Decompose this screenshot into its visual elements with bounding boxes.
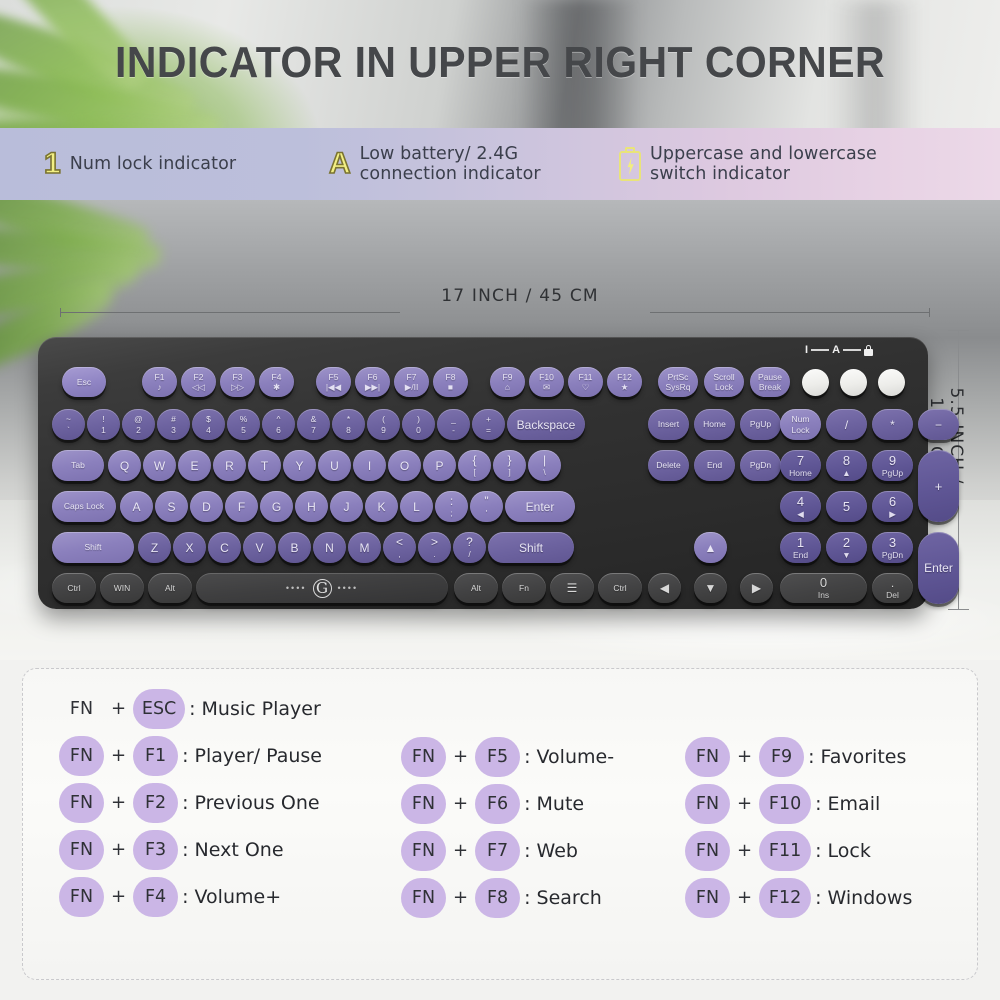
key-label-top: } bbox=[507, 454, 511, 466]
key-label-bottom: Break bbox=[759, 383, 781, 392]
key-num[interactable]: NumLock bbox=[780, 409, 821, 440]
key-[interactable]: |\ bbox=[528, 450, 561, 481]
key-f8[interactable]: F8■ bbox=[433, 367, 468, 397]
key-label-top: 5 bbox=[843, 500, 850, 513]
key-[interactable]: *8 bbox=[332, 409, 365, 440]
key-label-top: 9 bbox=[889, 454, 896, 467]
key-label-top: 0 bbox=[820, 576, 827, 589]
key-label-top: / bbox=[845, 419, 848, 431]
key-f3[interactable]: F3▷▷ bbox=[220, 367, 255, 397]
key-b[interactable]: B bbox=[278, 532, 311, 563]
fn-modifier-chip: FN bbox=[685, 784, 730, 824]
key-[interactable]: )0 bbox=[402, 409, 435, 440]
key-label-bottom: ▶▶| bbox=[365, 383, 380, 392]
plus-sign: + bbox=[453, 793, 468, 814]
key-label-top: Ctrl bbox=[613, 584, 626, 593]
key-label-bottom: ♡ bbox=[582, 383, 590, 392]
key-c[interactable]: C bbox=[208, 532, 241, 563]
key-[interactable]: <, bbox=[383, 532, 416, 563]
fn-shortcut-description: : Volume- bbox=[524, 746, 614, 768]
key-label-top: Enter bbox=[526, 501, 555, 513]
plus-sign: + bbox=[737, 887, 752, 908]
key-label-bottom: ; bbox=[450, 509, 452, 518]
key-label-top: W bbox=[154, 460, 165, 472]
fn-key-chip: F1 bbox=[133, 736, 178, 776]
key-label-bottom: 5 bbox=[241, 426, 246, 435]
key-[interactable]: ~` bbox=[52, 409, 85, 440]
letter-a-glyph: A bbox=[329, 149, 351, 179]
key-7[interactable]: 7Home bbox=[780, 450, 821, 481]
key-label-top: + bbox=[935, 480, 943, 493]
key-label-bottom: 2 bbox=[136, 426, 141, 435]
key-label-top: | bbox=[543, 454, 546, 466]
key-2[interactable]: 2▼ bbox=[826, 532, 867, 563]
key-label-bottom: ] bbox=[508, 468, 510, 477]
key-label-top: F3 bbox=[233, 373, 243, 382]
fn-shortcut-row: FN+F2: Previous One bbox=[59, 779, 389, 826]
key-capslock[interactable]: Caps Lock bbox=[52, 491, 116, 522]
key-label-top: Home bbox=[703, 420, 726, 429]
key-label-top: Alt bbox=[165, 584, 175, 593]
key-label-top: ☰ bbox=[567, 582, 578, 594]
fn-shortcut-row: FN+F9: Favorites bbox=[685, 733, 975, 780]
fn-key-chip: F6 bbox=[475, 784, 520, 824]
key-label-top: ▼ bbox=[705, 582, 717, 594]
fn-shortcuts-panel: FN+ESC: Music PlayerFN+F1: Player/ Pause… bbox=[22, 668, 978, 980]
key-label-top: 6 bbox=[889, 495, 896, 508]
key-e[interactable]: E bbox=[178, 450, 211, 481]
plus-sign: + bbox=[737, 746, 752, 767]
key-[interactable]: @2 bbox=[122, 409, 155, 440]
key-label-top: X bbox=[185, 542, 193, 554]
fn-key-chip: ESC bbox=[133, 689, 185, 729]
key-a[interactable]: A bbox=[120, 491, 153, 522]
key-label-top: L bbox=[413, 501, 420, 513]
fn-modifier-chip: FN bbox=[59, 783, 104, 823]
key-enter[interactable]: Enter bbox=[505, 491, 575, 522]
key-label-bottom: ▷▷ bbox=[231, 383, 244, 392]
key-[interactable]: ▶ bbox=[740, 573, 773, 603]
key-label-bottom: 1 bbox=[101, 426, 106, 435]
battery-bolt-icon bbox=[619, 147, 641, 181]
key-label-bottom: ⌂ bbox=[505, 383, 510, 392]
key-fn[interactable]: Fn bbox=[502, 573, 546, 603]
plus-sign: + bbox=[453, 840, 468, 861]
fn-shortcut-row: FN+F6: Mute bbox=[401, 780, 681, 827]
fn-modifier-chip: FN bbox=[685, 737, 730, 777]
key-label-top: + bbox=[486, 415, 491, 424]
fn-shortcut-description: : Next One bbox=[182, 839, 283, 861]
fn-modifier-chip: FN bbox=[401, 831, 446, 871]
key-label-top: > bbox=[431, 536, 438, 548]
fn-shortcut-row: FN+F12: Windows bbox=[685, 874, 975, 921]
key-label-bottom: Lock bbox=[715, 383, 733, 392]
key-label-top: ! bbox=[102, 415, 104, 424]
key-label-top: U bbox=[330, 460, 339, 472]
key-esc[interactable]: Esc bbox=[62, 367, 106, 397]
key-label-bottom: 7 bbox=[311, 426, 316, 435]
key-label-top: Alt bbox=[471, 584, 481, 593]
spacebar[interactable]: ••••G•••• bbox=[196, 573, 448, 603]
key-0[interactable]: 0Ins bbox=[780, 573, 867, 603]
fn-shortcut-row: FN+F5: Volume- bbox=[401, 733, 681, 780]
key-f5[interactable]: F5|◀◀ bbox=[316, 367, 351, 397]
key-[interactable]: * bbox=[872, 409, 913, 440]
measure-tick-left bbox=[60, 308, 61, 317]
round-button-white-3[interactable] bbox=[878, 369, 905, 396]
fn-modifier-chip: FN bbox=[401, 784, 446, 824]
key-f2[interactable]: F2◁◁ bbox=[181, 367, 216, 397]
key-label-top: ? bbox=[466, 536, 473, 548]
key-[interactable]: :; bbox=[435, 491, 468, 522]
key-label-top: ( bbox=[382, 415, 385, 424]
fn-key-chip: F10 bbox=[759, 784, 811, 824]
key-label-top: K bbox=[377, 501, 385, 513]
plus-sign: + bbox=[453, 887, 468, 908]
key-[interactable]: / bbox=[826, 409, 867, 440]
keyboard-indicator-strip: I A bbox=[805, 344, 873, 356]
key-shift[interactable]: Shift bbox=[52, 532, 134, 563]
fn-modifier-chip: FN bbox=[401, 878, 446, 918]
key-label-top: Ctrl bbox=[67, 584, 80, 593]
key-label-top: @ bbox=[134, 415, 143, 424]
key-label-top: N bbox=[325, 542, 334, 554]
key-y[interactable]: Y bbox=[283, 450, 316, 481]
key-[interactable]: += bbox=[472, 409, 505, 440]
key-d[interactable]: D bbox=[190, 491, 223, 522]
fn-shortcut-description: : Lock bbox=[815, 840, 871, 862]
key-u[interactable]: U bbox=[318, 450, 351, 481]
key-label-top: Z bbox=[151, 542, 158, 554]
key-w[interactable]: W bbox=[143, 450, 176, 481]
key-label-top: G bbox=[272, 501, 281, 513]
plus-sign: + bbox=[737, 840, 752, 861]
key-label-top: # bbox=[171, 415, 176, 424]
fn-shortcut-description: : Search bbox=[524, 887, 602, 909]
key-[interactable]: >. bbox=[418, 532, 451, 563]
fn-shortcut-description: : Previous One bbox=[182, 792, 319, 814]
key-label-bottom: End bbox=[793, 551, 808, 560]
key-label-bottom: 3 bbox=[171, 426, 176, 435]
fn-key-chip: F9 bbox=[759, 737, 804, 777]
fn-shortcut-row: FN+F3: Next One bbox=[59, 826, 389, 873]
key-[interactable]: &7 bbox=[297, 409, 330, 440]
key-label-top: F4 bbox=[272, 373, 282, 382]
key-1[interactable]: 1End bbox=[780, 532, 821, 563]
fn-shortcut-description: : Mute bbox=[524, 793, 584, 815]
key-[interactable]: !1 bbox=[87, 409, 120, 440]
indicator-legend-bar: 1 Num lock indicator A Low battery/ 2.4G… bbox=[0, 128, 1000, 200]
key-f11[interactable]: F11♡ bbox=[568, 367, 603, 397]
key-f10[interactable]: F10✉ bbox=[529, 367, 564, 397]
brand-logo: G bbox=[313, 579, 332, 598]
key-[interactable]: $4 bbox=[192, 409, 225, 440]
key-label-bottom: , bbox=[398, 550, 400, 559]
key-4[interactable]: 4◀ bbox=[780, 491, 821, 522]
key-[interactable]: ◀ bbox=[648, 573, 681, 603]
key-label-top: F10 bbox=[539, 373, 554, 382]
key-label-top: F6 bbox=[368, 373, 378, 382]
key-alt[interactable]: Alt bbox=[454, 573, 498, 603]
fn-shortcut-description: : Windows bbox=[815, 887, 912, 909]
key-n[interactable]: N bbox=[313, 532, 346, 563]
key-alt[interactable]: Alt bbox=[148, 573, 192, 603]
key-3[interactable]: 3PgDn bbox=[872, 532, 913, 563]
key-k[interactable]: K bbox=[365, 491, 398, 522]
key-label-top: ◀ bbox=[660, 582, 669, 594]
key-6[interactable]: 6▶ bbox=[872, 491, 913, 522]
fn-key-chip: F5 bbox=[475, 737, 520, 777]
key-label-top: % bbox=[240, 415, 248, 424]
key-[interactable]: + bbox=[918, 450, 959, 522]
key-label-bottom: \ bbox=[543, 468, 545, 477]
key-label-bottom: ✱ bbox=[273, 383, 280, 392]
key-label-top: 4 bbox=[797, 495, 804, 508]
key-label-top: $ bbox=[206, 415, 211, 424]
key-5[interactable]: 5 bbox=[826, 491, 867, 522]
plus-sign: + bbox=[111, 745, 126, 766]
measure-tick-top bbox=[948, 330, 969, 331]
key-t[interactable]: T bbox=[248, 450, 281, 481]
keyboard-keys-area: EscF1♪F2◁◁F3▷▷F4✱F5|◀◀F6▶▶|F7▶/IIF8■F9⌂F… bbox=[38, 337, 928, 609]
key-label-top: E bbox=[190, 460, 198, 472]
key-[interactable]: #3 bbox=[157, 409, 190, 440]
fn-shortcut-row: FN+F10: Email bbox=[685, 780, 975, 827]
key-label-top: F9 bbox=[503, 373, 513, 382]
key-z[interactable]: Z bbox=[138, 532, 171, 563]
key-g[interactable]: G bbox=[260, 491, 293, 522]
plus-sign: + bbox=[111, 839, 126, 860]
plus-sign: + bbox=[111, 886, 126, 907]
key-[interactable]: _- bbox=[437, 409, 470, 440]
indicator-numlock-label: I bbox=[805, 344, 808, 356]
key-label-top: End bbox=[707, 461, 722, 470]
fn-shortcut-row: FN+F7: Web bbox=[401, 827, 681, 874]
key-f1[interactable]: F1♪ bbox=[142, 367, 177, 397]
key-o[interactable]: O bbox=[388, 450, 421, 481]
key-label-top: Shift bbox=[519, 542, 543, 554]
key-label-top: F7 bbox=[407, 373, 417, 382]
fn-shortcut-row: FN+F11: Lock bbox=[685, 827, 975, 874]
key-9[interactable]: 9PgUp bbox=[872, 450, 913, 481]
key-p[interactable]: P bbox=[423, 450, 456, 481]
key-label-top: : bbox=[450, 495, 453, 507]
legend-battery-line2: connection indicator bbox=[360, 164, 541, 184]
fn-key-chip: F2 bbox=[133, 783, 178, 823]
legend-caps-line1: Uppercase and lowercase bbox=[650, 144, 877, 164]
key-label-top: Scroll bbox=[713, 373, 734, 382]
key-label-bottom: 6 bbox=[276, 426, 281, 435]
key-v[interactable]: V bbox=[243, 532, 276, 563]
key-label-top: F11 bbox=[578, 373, 592, 382]
key-label-top: " bbox=[484, 495, 488, 507]
key-x[interactable]: X bbox=[173, 532, 206, 563]
key-[interactable]: ▼ bbox=[694, 573, 727, 603]
round-button-white-1[interactable] bbox=[802, 369, 829, 396]
key-label-top: Tab bbox=[71, 461, 85, 470]
key-label-top: Backspace bbox=[517, 419, 576, 431]
key-delete[interactable]: Delete bbox=[648, 450, 689, 481]
key-end[interactable]: End bbox=[694, 450, 735, 481]
key-label-top: * bbox=[347, 415, 350, 424]
fn-shortcut-row: FN+ESC: Music Player bbox=[59, 685, 389, 732]
key-label-bottom: Home bbox=[789, 469, 812, 478]
key-label-top: F5 bbox=[329, 373, 339, 382]
key-8[interactable]: 8▲ bbox=[826, 450, 867, 481]
key-label-bottom: 8 bbox=[346, 426, 351, 435]
key-[interactable]: ▲ bbox=[694, 532, 727, 563]
key-prtsc[interactable]: PrtScSysRq bbox=[658, 367, 698, 397]
plus-sign: + bbox=[453, 746, 468, 767]
measure-line-left bbox=[60, 312, 400, 313]
key-label-top: Enter bbox=[924, 562, 953, 574]
key-label-bottom: ◁◁ bbox=[192, 383, 205, 392]
key-label-top: Esc bbox=[77, 378, 91, 387]
key-[interactable]: ☰ bbox=[550, 573, 594, 603]
key-backspace[interactable]: Backspace bbox=[507, 409, 585, 440]
key-[interactable]: }] bbox=[493, 450, 526, 481]
key-label-top: ) bbox=[417, 415, 420, 424]
fn-key-chip: F7 bbox=[475, 831, 520, 871]
key-q[interactable]: Q bbox=[108, 450, 141, 481]
key-label-bottom: PgUp bbox=[882, 469, 903, 478]
key-home[interactable]: Home bbox=[694, 409, 735, 440]
key-enter[interactable]: Enter bbox=[918, 532, 959, 604]
key-label-bottom: = bbox=[486, 426, 491, 435]
fn-modifier-chip: FN bbox=[59, 877, 104, 917]
fn-shortcut-description: : Player/ Pause bbox=[182, 745, 322, 767]
key-[interactable]: (9 bbox=[367, 409, 400, 440]
fn-modifier-chip: FN bbox=[59, 689, 104, 729]
indicator-divider bbox=[843, 349, 861, 350]
key-[interactable]: .Del bbox=[872, 573, 913, 603]
key-[interactable]: "' bbox=[470, 491, 503, 522]
fn-shortcuts-column-2: FN+F5: Volume-FN+F6: MuteFN+F7: WebFN+F8… bbox=[401, 733, 681, 921]
key-ctrl[interactable]: Ctrl bbox=[598, 573, 642, 603]
key-l[interactable]: L bbox=[400, 491, 433, 522]
round-button-white-2[interactable] bbox=[840, 369, 867, 396]
key-label-top: . bbox=[891, 577, 894, 589]
key-f4[interactable]: F4✱ bbox=[259, 367, 294, 397]
key-label-top: R bbox=[225, 460, 234, 472]
key-[interactable]: ^6 bbox=[262, 409, 295, 440]
key-label-top: O bbox=[400, 460, 409, 472]
key-label-top: ^ bbox=[277, 415, 281, 424]
key-label-top: Pause bbox=[758, 373, 782, 382]
key-r[interactable]: R bbox=[213, 450, 246, 481]
key-label-bottom: Del bbox=[886, 591, 899, 600]
key-j[interactable]: J bbox=[330, 491, 363, 522]
key-label-top: Delete bbox=[656, 461, 681, 470]
key-label-top: Fn bbox=[519, 584, 529, 593]
key-[interactable]: ?/ bbox=[453, 532, 486, 563]
fn-shortcuts-column-3: FN+F9: FavoritesFN+F10: EmailFN+F11: Loc… bbox=[685, 733, 975, 921]
key-label-bottom: [ bbox=[473, 468, 475, 477]
key-label-top: Num bbox=[792, 415, 810, 424]
key-label-top: J bbox=[344, 501, 350, 513]
fn-key-chip: F11 bbox=[759, 831, 811, 871]
key-label-top: WIN bbox=[114, 584, 131, 593]
key-ctrl[interactable]: Ctrl bbox=[52, 573, 96, 603]
key-label-bottom: ▶ bbox=[889, 510, 896, 519]
fn-key-chip: F12 bbox=[759, 878, 811, 918]
plus-sign: + bbox=[111, 792, 126, 813]
key-label-top: PgUp bbox=[750, 420, 771, 429]
legend-item-numlock-label: Num lock indicator bbox=[70, 154, 237, 174]
legend-item-caps-label: Uppercase and lowercase switch indicator bbox=[650, 144, 877, 185]
key-f12[interactable]: F12★ bbox=[607, 367, 642, 397]
key-s[interactable]: S bbox=[155, 491, 188, 522]
key-label-top: & bbox=[311, 415, 317, 424]
key-i[interactable]: I bbox=[353, 450, 386, 481]
key-label-top: D bbox=[202, 501, 211, 513]
key-[interactable]: %5 bbox=[227, 409, 260, 440]
key-label-top: I bbox=[368, 460, 371, 472]
key-label-top: _ bbox=[451, 415, 456, 424]
key-label-top: Caps Lock bbox=[64, 502, 104, 511]
key-h[interactable]: H bbox=[295, 491, 328, 522]
key-scroll[interactable]: ScrollLock bbox=[704, 367, 744, 397]
width-measurement-label: 17 INCH / 45 CM bbox=[300, 286, 740, 306]
key-tab[interactable]: Tab bbox=[52, 450, 104, 481]
key-label-bottom: ▶/II bbox=[405, 383, 419, 392]
key-label-bottom: ◀ bbox=[797, 510, 804, 519]
key-[interactable]: − bbox=[918, 409, 959, 440]
key-f9[interactable]: F9⌂ bbox=[490, 367, 525, 397]
key-label-top: Shift bbox=[84, 543, 101, 552]
key-label-top: Insert bbox=[658, 420, 679, 429]
key-label-top: T bbox=[261, 460, 268, 472]
key-win[interactable]: WIN bbox=[100, 573, 144, 603]
key-label-bottom: ■ bbox=[448, 383, 453, 392]
plus-sign: + bbox=[111, 698, 126, 719]
key-insert[interactable]: Insert bbox=[648, 409, 689, 440]
key-label-top: PrtSc bbox=[668, 373, 689, 382]
key-label-top: F8 bbox=[446, 373, 456, 382]
fn-modifier-chip: FN bbox=[59, 736, 104, 776]
key-f7[interactable]: F7▶/II bbox=[394, 367, 429, 397]
key-shift[interactable]: Shift bbox=[488, 532, 574, 563]
key-label-bottom: 0 bbox=[416, 426, 421, 435]
key-pause[interactable]: PauseBreak bbox=[750, 367, 790, 397]
key-label-top: 2 bbox=[843, 536, 850, 549]
fn-shortcut-description: : Volume+ bbox=[182, 886, 281, 908]
plus-sign: + bbox=[737, 793, 752, 814]
key-label-top: C bbox=[220, 542, 229, 554]
key-label-top: S bbox=[167, 501, 175, 513]
legend-item-battery-label: Low battery/ 2.4G connection indicator bbox=[360, 144, 541, 185]
key-label-top: * bbox=[890, 419, 895, 431]
fn-modifier-chip: FN bbox=[685, 878, 730, 918]
key-label-bottom: 9 bbox=[381, 426, 386, 435]
key-label-top: F2 bbox=[194, 373, 204, 382]
key-f6[interactable]: F6▶▶| bbox=[355, 367, 390, 397]
fn-shortcut-description: : Email bbox=[815, 793, 880, 815]
key-label-bottom: ✉ bbox=[543, 383, 550, 392]
key-label-bottom: SysRq bbox=[665, 383, 690, 392]
key-label-bottom: Ins bbox=[818, 591, 829, 600]
spacebar-dots-left: •••• bbox=[286, 583, 307, 593]
legend-battery-line1: Low battery/ 2.4G bbox=[360, 144, 518, 164]
key-[interactable]: {[ bbox=[458, 450, 491, 481]
key-label-top: − bbox=[935, 419, 942, 431]
key-pgdn[interactable]: PgDn bbox=[740, 450, 781, 481]
fn-key-chip: F8 bbox=[475, 878, 520, 918]
key-f[interactable]: F bbox=[225, 491, 258, 522]
key-label-top: 7 bbox=[797, 454, 804, 467]
key-pgup[interactable]: PgUp bbox=[740, 409, 781, 440]
key-m[interactable]: M bbox=[348, 532, 381, 563]
